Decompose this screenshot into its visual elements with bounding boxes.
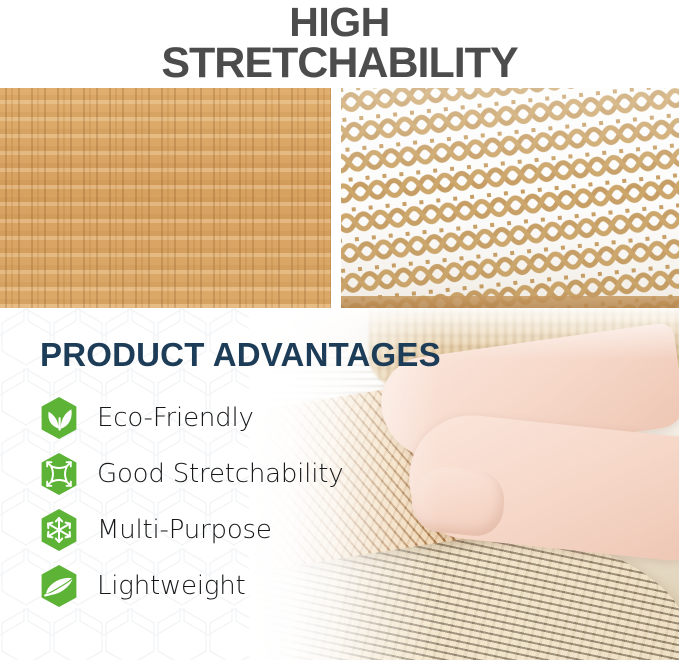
expand-arrows-icon [36, 451, 82, 497]
honeycomb-mesh-pattern-icon [341, 88, 679, 308]
advantages-content: PRODUCT ADVANTAGES Eco-Friendly [0, 308, 679, 660]
multi-direction-arrows-icon [36, 507, 82, 553]
headline-line-2: STRETCHABILITY [0, 42, 679, 84]
headline-line-1: HIGH [0, 0, 679, 42]
advantage-item-good-stretchability: Good Stretchability [36, 446, 456, 502]
comparison-panels [0, 88, 679, 308]
headline-block: HIGH STRETCHABILITY [0, 0, 679, 88]
advantage-item-multi-purpose: Multi-Purpose [36, 502, 456, 558]
leaf-icon [36, 395, 82, 441]
mesh-photo-floor [341, 296, 679, 308]
unstretched-paper-photo [0, 88, 331, 308]
section-title: PRODUCT ADVANTAGES [40, 336, 441, 374]
advantage-label: Lightweight [97, 571, 246, 601]
advantages-list: Eco-Friendly [36, 390, 456, 614]
product-advantages-poster: HIGH STRETCHABILITY [0, 0, 679, 660]
stretched-mesh-photo [341, 88, 679, 308]
advantage-label: Eco-Friendly [97, 403, 254, 433]
advantage-label: Multi-Purpose [97, 515, 272, 545]
feather-icon [36, 563, 82, 609]
advantage-item-eco-friendly: Eco-Friendly [36, 390, 456, 446]
advantages-section: PRODUCT ADVANTAGES Eco-Friendly [0, 308, 679, 660]
advantage-item-lightweight: Lightweight [36, 558, 456, 614]
advantage-label: Good Stretchability [97, 459, 343, 489]
